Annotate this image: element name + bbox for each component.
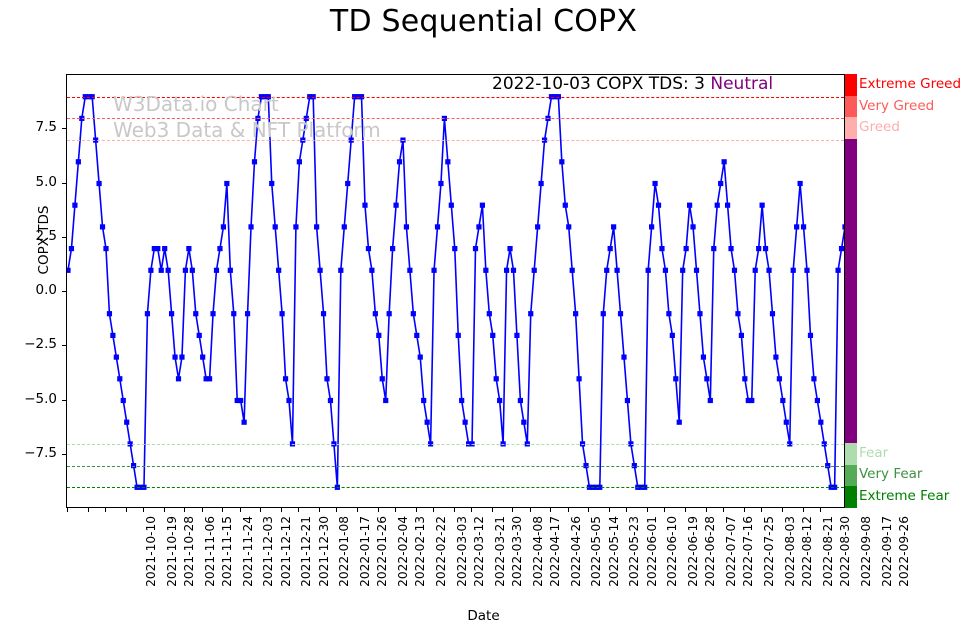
data-point (338, 268, 343, 273)
x-tick-label: 2021-11-15 (220, 516, 234, 587)
data-point (628, 441, 633, 446)
data-point (224, 181, 229, 186)
data-point (559, 159, 564, 164)
x-tick-mark (568, 508, 569, 512)
x-tick-mark (298, 508, 299, 512)
data-point (349, 138, 354, 143)
data-point (387, 311, 392, 316)
data-point (735, 311, 740, 316)
data-point (528, 311, 533, 316)
x-tick-mark (281, 508, 282, 512)
data-point (400, 138, 405, 143)
data-point (172, 355, 177, 360)
x-tick-mark (550, 508, 551, 512)
data-point (252, 159, 257, 164)
x-tick-mark (588, 508, 589, 512)
data-point (822, 441, 827, 446)
x-tick-label: 2021-12-30 (316, 516, 330, 587)
x-tick-label: 2021-10-19 (165, 516, 179, 587)
data-point (704, 376, 709, 381)
data-point (166, 268, 171, 273)
data-point (362, 203, 367, 208)
data-point (542, 138, 547, 143)
data-point (438, 181, 443, 186)
x-tick-label: 2021-12-12 (279, 516, 293, 587)
data-point (566, 224, 571, 229)
data-point (487, 311, 492, 316)
x-tick-mark (395, 508, 396, 512)
annotation-text: 2022-10-03 COPX TDS: 3 (492, 75, 705, 94)
x-tick-label: 2022-07-07 (724, 516, 738, 587)
x-tick-mark (492, 508, 493, 512)
data-point (162, 246, 167, 251)
data-point (742, 376, 747, 381)
data-point (431, 268, 436, 273)
data-point (832, 485, 837, 490)
data-point (79, 116, 84, 121)
data-point (145, 311, 150, 316)
x-tick-label: 2021-11-06 (203, 516, 217, 587)
data-point (107, 311, 112, 316)
x-tick-label: 2022-09-17 (879, 516, 893, 587)
data-point (728, 246, 733, 251)
data-point (245, 311, 250, 316)
data-point (197, 333, 202, 338)
data-point (556, 94, 561, 99)
data-point (141, 485, 146, 490)
data-point (128, 441, 133, 446)
zone-band-neutral (845, 139, 857, 443)
data-point (476, 224, 481, 229)
x-tick-mark (357, 508, 358, 512)
x-tick-mark (820, 508, 821, 512)
data-point (521, 420, 526, 425)
data-point (784, 420, 789, 425)
data-point (545, 116, 550, 121)
data-point (825, 463, 830, 468)
y-tick-label: 2.5 (36, 228, 57, 244)
x-tick-mark (706, 508, 707, 512)
data-point (670, 333, 675, 338)
zone-band-greed (845, 117, 857, 139)
data-point (732, 268, 737, 273)
data-point (811, 376, 816, 381)
data-point (532, 268, 537, 273)
plot-inner: W3Data.io Chart Web3 Data & NFT Platform… (67, 75, 844, 507)
data-point (442, 116, 447, 121)
x-tick-label: 2022-01-17 (358, 516, 372, 587)
data-point (473, 246, 478, 251)
data-point (773, 355, 778, 360)
data-point (815, 398, 820, 403)
data-point (601, 311, 606, 316)
data-point (766, 268, 771, 273)
data-point (186, 246, 191, 251)
data-point (214, 268, 219, 273)
x-tick-label: 2021-10-10 (144, 516, 158, 587)
x-tick-mark (744, 508, 745, 512)
x-tick-label: 2022-08-12 (800, 516, 814, 587)
data-point (169, 311, 174, 316)
data-point (269, 181, 274, 186)
data-point (621, 355, 626, 360)
data-point (314, 224, 319, 229)
data-point (722, 159, 727, 164)
x-tick-label: 2022-05-23 (627, 516, 641, 587)
data-point (373, 311, 378, 316)
x-tick-mark (685, 508, 686, 512)
data-point (583, 463, 588, 468)
x-tick-label: 2022-01-26 (375, 516, 389, 587)
x-tick-label: 2022-02-22 (434, 516, 448, 587)
data-point (421, 398, 426, 403)
data-point (576, 376, 581, 381)
x-tick-mark (454, 508, 455, 512)
x-tick-mark (240, 508, 241, 512)
data-point (418, 355, 423, 360)
data-point (321, 311, 326, 316)
data-point (103, 246, 108, 251)
x-tick-label: 2021-10-28 (182, 516, 196, 587)
data-point (804, 268, 809, 273)
x-tick-mark (143, 508, 144, 512)
data-point (611, 224, 616, 229)
data-point (608, 246, 613, 251)
data-point (390, 246, 395, 251)
x-tick-label: 2022-06-28 (703, 516, 717, 587)
data-point (266, 94, 271, 99)
zone-label-fear: Fear (859, 445, 888, 461)
data-point (649, 224, 654, 229)
x-tick-label: 2022-08-21 (821, 516, 835, 587)
x-tick-label: 2022-04-26 (569, 516, 583, 587)
data-point (749, 398, 754, 403)
data-point (539, 181, 544, 186)
data-point (428, 441, 433, 446)
data-point (715, 203, 720, 208)
zone-band-very-fear (845, 465, 857, 487)
data-point (311, 94, 316, 99)
data-point (687, 203, 692, 208)
x-tick-mark (202, 508, 203, 512)
data-point (518, 398, 523, 403)
data-point (842, 224, 844, 229)
data-point (597, 485, 602, 490)
data-point (725, 203, 730, 208)
data-point (96, 181, 101, 186)
data-point (90, 94, 95, 99)
data-point (342, 224, 347, 229)
data-point (359, 94, 364, 99)
data-point (380, 376, 385, 381)
x-tick-label: 2021-12-21 (299, 516, 313, 587)
x-tick-label: 2022-06-19 (686, 516, 700, 587)
data-point (801, 224, 806, 229)
zone-band-very-greed (845, 96, 857, 118)
series-line (68, 97, 844, 488)
data-point (404, 224, 409, 229)
data-point (331, 441, 336, 446)
y-tick-label: 7.5 (36, 119, 57, 135)
data-point (563, 203, 568, 208)
data-point (456, 333, 461, 338)
data-point (407, 268, 412, 273)
data-point (131, 463, 136, 468)
data-point (369, 268, 374, 273)
data-point (652, 181, 657, 186)
data-point (300, 138, 305, 143)
x-tick-label: 2022-02-04 (396, 516, 410, 587)
data-point (242, 420, 247, 425)
data-point (221, 224, 226, 229)
x-tick-label: 2022-04-08 (531, 516, 545, 587)
data-point (124, 420, 129, 425)
data-point (190, 268, 195, 273)
data-point (248, 224, 253, 229)
data-point (459, 398, 464, 403)
data-point (756, 246, 761, 251)
data-point (663, 268, 668, 273)
data-point (763, 246, 768, 251)
data-point (179, 355, 184, 360)
data-point (193, 311, 198, 316)
data-point (501, 441, 506, 446)
data-point (297, 159, 302, 164)
data-point (76, 159, 81, 164)
data-point (573, 311, 578, 316)
x-tick-mark (626, 508, 627, 512)
x-tick-label: 2022-06-10 (665, 516, 679, 587)
data-point (217, 246, 222, 251)
data-point (791, 268, 796, 273)
x-tick-label: 2022-03-12 (472, 516, 486, 587)
data-point (69, 246, 74, 251)
zone-label-greed: Greed (859, 119, 900, 135)
data-point (383, 398, 388, 403)
data-point (753, 268, 758, 273)
data-point (345, 181, 350, 186)
data-point (114, 355, 119, 360)
data-point (632, 463, 637, 468)
data-point (469, 441, 474, 446)
data-point (414, 333, 419, 338)
data-point (286, 398, 291, 403)
x-tick-mark (319, 508, 320, 512)
data-point (770, 311, 775, 316)
x-tick-mark (416, 508, 417, 512)
data-point (411, 311, 416, 316)
x-tick-mark (67, 508, 68, 512)
x-tick-mark (88, 508, 89, 512)
data-point (452, 246, 457, 251)
data-point (207, 376, 212, 381)
x-tick-mark (664, 508, 665, 512)
data-point (393, 203, 398, 208)
x-tick-label: 2022-05-14 (607, 516, 621, 587)
data-point (514, 333, 519, 338)
y-tick-label: 5.0 (36, 174, 57, 190)
x-axis-label: Date (0, 608, 967, 624)
x-tick-label: 2022-08-03 (783, 516, 797, 587)
data-point (760, 203, 765, 208)
zone-label-extreme-fear: Extreme Fear (859, 488, 949, 504)
data-point (200, 355, 205, 360)
data-point (445, 159, 450, 164)
data-point (317, 268, 322, 273)
x-tick-label: 2022-03-03 (455, 516, 469, 587)
zone-color-band (845, 74, 857, 508)
data-point (694, 268, 699, 273)
zone-band-extreme-greed (845, 74, 857, 96)
x-tick-mark (512, 508, 513, 512)
x-tick-mark (761, 508, 762, 512)
plot-area: W3Data.io Chart Web3 Data & NFT Platform… (66, 74, 845, 508)
data-point (155, 246, 160, 251)
data-point (280, 311, 285, 316)
data-point (777, 376, 782, 381)
data-point (228, 268, 233, 273)
chart-root: TD Sequential COPX COPX TDS Date −7.5−5.… (0, 0, 967, 633)
x-tick-label: 2022-03-21 (493, 516, 507, 587)
data-point (276, 268, 281, 273)
data-point (159, 268, 164, 273)
data-point (148, 268, 153, 273)
data-point (293, 224, 298, 229)
data-point (780, 398, 785, 403)
data-point (618, 311, 623, 316)
data-point (684, 246, 689, 251)
x-tick-label: 2022-09-26 (897, 516, 911, 587)
data-point (238, 398, 243, 403)
data-point (711, 246, 716, 251)
data-point (183, 268, 188, 273)
data-point (110, 333, 115, 338)
data-point (328, 398, 333, 403)
x-tick-label: 2022-02-13 (413, 516, 427, 587)
data-point (100, 224, 105, 229)
data-point (449, 203, 454, 208)
x-tick-label: 2022-04-17 (548, 516, 562, 587)
x-tick-mark (126, 508, 127, 512)
x-tick-label: 2022-09-08 (859, 516, 873, 587)
data-point (497, 398, 502, 403)
data-point (273, 224, 278, 229)
annotation-state: Neutral (710, 75, 773, 94)
x-tick-label: 2021-12-03 (261, 516, 275, 587)
data-point (570, 268, 575, 273)
x-tick-mark (647, 508, 648, 512)
y-tick-label: 0.0 (36, 282, 57, 298)
data-point (680, 268, 685, 273)
data-point (324, 376, 329, 381)
x-tick-mark (530, 508, 531, 512)
data-point (283, 376, 288, 381)
data-point (794, 224, 799, 229)
x-tick-mark (723, 508, 724, 512)
data-point (176, 376, 181, 381)
data-point (614, 268, 619, 273)
x-tick-mark (260, 508, 261, 512)
data-point (121, 398, 126, 403)
data-point (690, 224, 695, 229)
x-tick-mark (336, 508, 337, 512)
data-point (210, 311, 215, 316)
x-tick-mark (184, 508, 185, 512)
data-point (701, 355, 706, 360)
x-tick-label: 2022-07-16 (741, 516, 755, 587)
data-point (255, 116, 260, 121)
data-point (835, 268, 840, 273)
data-point (483, 268, 488, 273)
data-point (666, 311, 671, 316)
series-plot (67, 75, 844, 507)
data-point (739, 333, 744, 338)
data-point (463, 420, 468, 425)
data-point (787, 441, 792, 446)
x-tick-label: 2021-11-24 (241, 516, 255, 587)
x-tick-label: 2022-01-08 (337, 516, 351, 587)
data-point (504, 268, 509, 273)
x-tick-mark (222, 508, 223, 512)
data-point (798, 181, 803, 186)
data-point (659, 246, 664, 251)
data-point (304, 116, 309, 121)
data-point (490, 333, 495, 338)
data-point (673, 376, 678, 381)
data-point (335, 485, 340, 490)
data-point (708, 398, 713, 403)
x-tick-label: 2022-05-05 (589, 516, 603, 587)
x-tick-mark (803, 508, 804, 512)
data-point (525, 441, 530, 446)
data-point (425, 420, 430, 425)
y-tick-label: −5.0 (24, 391, 57, 407)
data-point (839, 246, 844, 251)
data-point (435, 224, 440, 229)
zone-label-extreme-greed: Extreme Greed (859, 76, 961, 92)
y-tick-label: −2.5 (24, 336, 57, 352)
data-point (72, 203, 77, 208)
data-point (507, 246, 512, 251)
data-point (231, 311, 236, 316)
y-tick-label: −7.5 (24, 445, 57, 461)
x-tick-mark (164, 508, 165, 512)
data-point (677, 420, 682, 425)
data-point (818, 420, 823, 425)
data-point (535, 224, 540, 229)
x-tick-mark (105, 508, 106, 512)
data-point (117, 376, 122, 381)
x-tick-label: 2022-08-30 (838, 516, 852, 587)
data-point (290, 441, 295, 446)
data-point (642, 485, 647, 490)
data-point (376, 333, 381, 338)
data-point (397, 159, 402, 164)
data-point (580, 441, 585, 446)
data-point (697, 311, 702, 316)
data-point (646, 268, 651, 273)
x-tick-mark (433, 508, 434, 512)
zone-label-very-fear: Very Fear (859, 466, 922, 482)
zone-band-extreme-fear (845, 486, 857, 508)
zone-label-very-greed: Very Greed (859, 98, 934, 114)
data-point (366, 246, 371, 251)
x-tick-label: 2022-03-30 (510, 516, 524, 587)
zone-band-fear (845, 443, 857, 465)
data-point (93, 138, 98, 143)
x-tick-mark (782, 508, 783, 512)
latest-value-annotation: 2022-10-03 COPX TDS: 3 Neutral (492, 75, 773, 94)
